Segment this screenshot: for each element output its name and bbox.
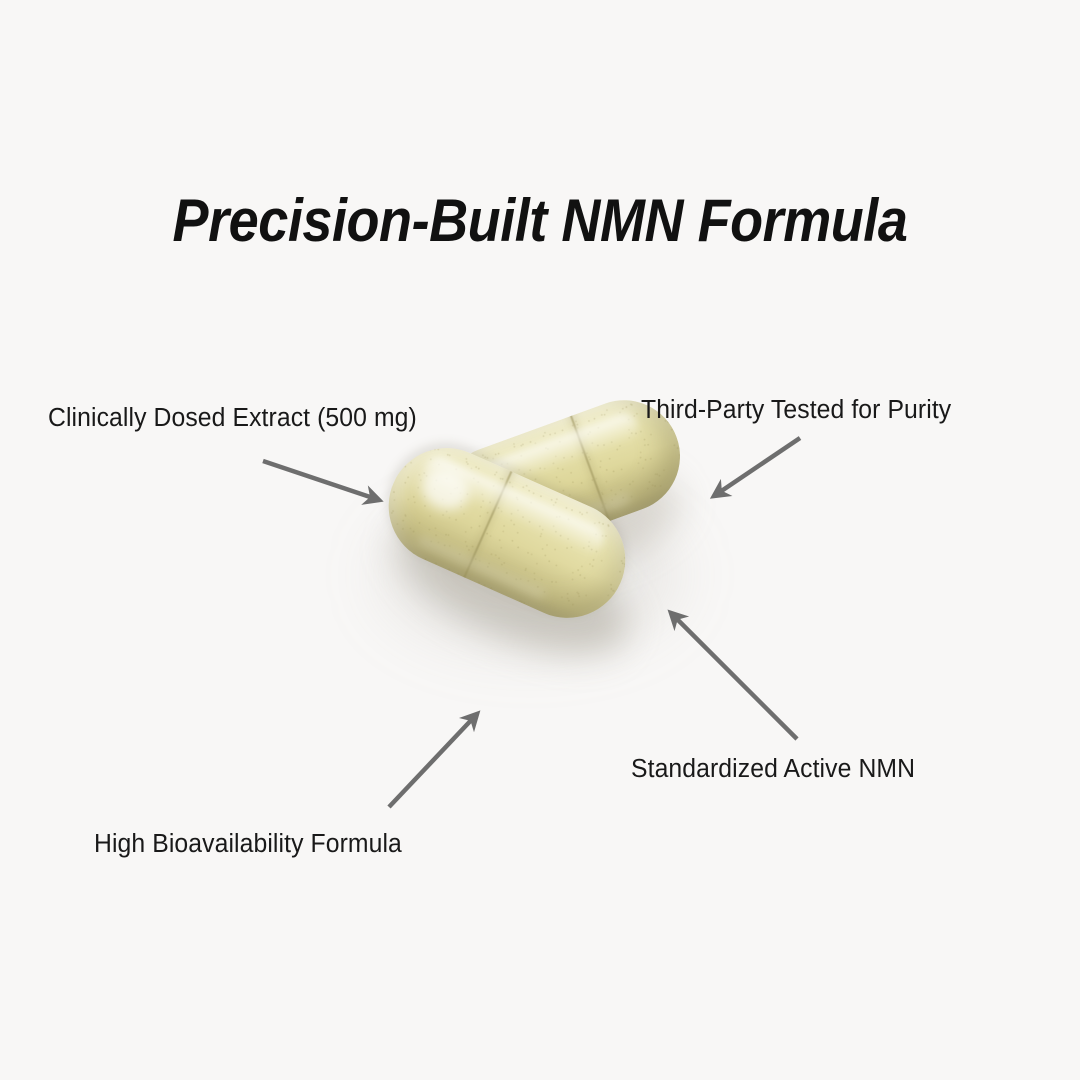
arrow-third-party-tested bbox=[714, 438, 800, 496]
arrow-clinically-dosed-extract bbox=[263, 461, 379, 500]
arrow-high-bioavailability-formula bbox=[389, 714, 477, 807]
callout-label-high-bioavailability-formula: High Bioavailability Formula bbox=[94, 830, 402, 859]
page-title: Precision-Built NMN Formula bbox=[54, 186, 1026, 255]
product-infographic: Precision-Built NMN Formula bbox=[0, 0, 1080, 1080]
callout-label-third-party-tested: Third-Party Tested for Purity bbox=[641, 396, 951, 425]
callout-label-standardized-active-nmn: Standardized Active NMN bbox=[631, 755, 915, 784]
callout-label-clinically-dosed-extract: Clinically Dosed Extract (500 mg) bbox=[48, 404, 417, 433]
product-image bbox=[375, 405, 695, 705]
